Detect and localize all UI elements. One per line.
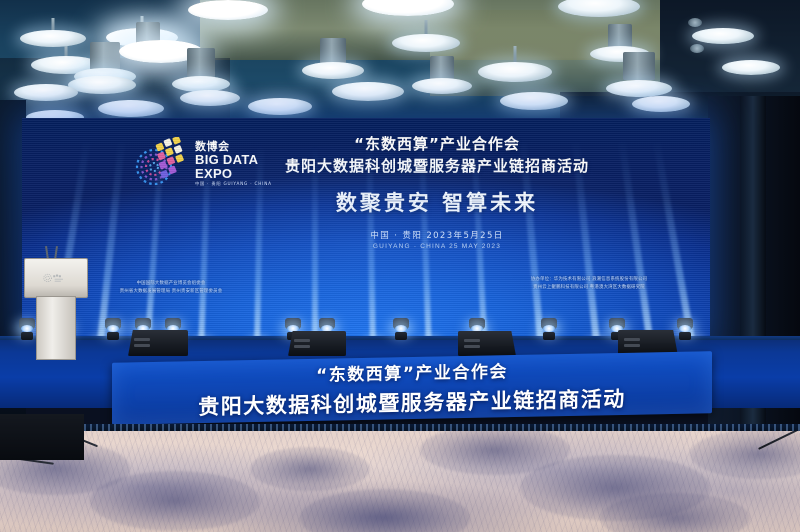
disc-pendant-light: [630, 82, 692, 120]
screen-date-en: GUIYANG · CHINA 25 MAY 2023: [272, 243, 602, 250]
disc-pendant-light: [186, 0, 270, 34]
organizer-credits-left: 中国国际大数据产业博览会组委会 贵州省大数据发展管理局 贵州贵安新区管理委员会: [96, 280, 246, 297]
podium-logo-icon: [42, 271, 70, 285]
screen-slogan: 数聚贵安 智算未来: [272, 187, 602, 217]
stage-banner-line-2: 贵阳大数据科创城暨服务器产业链招商活动: [198, 383, 626, 421]
podium-base: [36, 296, 76, 360]
speaker-podium: [24, 258, 86, 358]
ceiling: [0, 0, 800, 132]
patterned-carpet: [0, 431, 800, 532]
moving-head-light: [104, 318, 122, 340]
disc-pendant-light: [330, 64, 406, 108]
disc-pendant-light: [498, 78, 570, 120]
stage-monitor-speaker: [288, 331, 346, 356]
organizer-right-line-2: 贵州云上鲲鹏科技有限公司 粤港澳大湾区大数据研究院: [474, 284, 704, 292]
foreground-dark-object: [0, 414, 84, 460]
organizer-right-line-1: 协办单位：华为技术有限公司 浪潮信息系统股份有限公司: [474, 276, 704, 284]
screen-title-line-2: 贵阳大数据科创城暨服务器产业链招商活动: [272, 156, 602, 178]
big-data-expo-logo: 数博会 BIG DATA EXPO 中国 · 贵阳 GUIYANG · CHIN…: [134, 136, 272, 192]
expo-logo-name-en-2: EXPO: [195, 167, 272, 181]
moving-head-light: [540, 318, 558, 340]
moving-head-light: [676, 318, 694, 340]
led-stage-screen: 数博会 BIG DATA EXPO 中国 · 贵阳 GUIYANG · CHIN…: [22, 118, 710, 346]
screen-title-line-1: “东数西算”产业合作会: [272, 134, 602, 156]
stage-banner-line-1: “东数西算”产业合作会: [316, 357, 508, 386]
moving-head-light: [392, 318, 410, 340]
stage-front-banner: “东数西算”产业合作会 贵阳大数据科创城暨服务器产业链招商活动: [112, 351, 712, 425]
stage-monitor-speaker: [128, 330, 188, 356]
disc-pendant-light: [410, 56, 474, 98]
conference-stage-photo: 数博会 BIG DATA EXPO 中国 · 贵阳 GUIYANG · CHIN…: [0, 0, 800, 532]
organizer-left-line-1: 中国国际大数据产业博览会组委会: [96, 280, 246, 288]
disc-pendant-light: [178, 74, 242, 114]
screen-date-cn: 中国 · 贵阳 2023年5月25日: [272, 229, 602, 241]
podium-panel: [24, 258, 88, 298]
organizer-left-line-2: 贵州省大数据发展管理局 贵州贵安新区管理委员会: [96, 288, 246, 296]
organizer-credits-right: 协办单位：华为技术有限公司 浪潮信息系统股份有限公司 贵州云上鲲鹏科技有限公司 …: [474, 276, 704, 293]
stage-monitor-speaker: [458, 331, 516, 356]
screen-title-block: “东数西算”产业合作会 贵阳大数据科创城暨服务器产业链招商活动 数聚贵安 智算未…: [272, 134, 602, 250]
disc-pendant-light: [720, 48, 782, 86]
big-data-expo-swirl-mark: [134, 137, 190, 191]
expo-logo-name-en-1: BIG DATA: [195, 153, 272, 167]
expo-logo-subtitle: 中国 · 贵阳 GUIYANG · CHINA: [195, 181, 272, 187]
floor-cable: [758, 431, 800, 450]
